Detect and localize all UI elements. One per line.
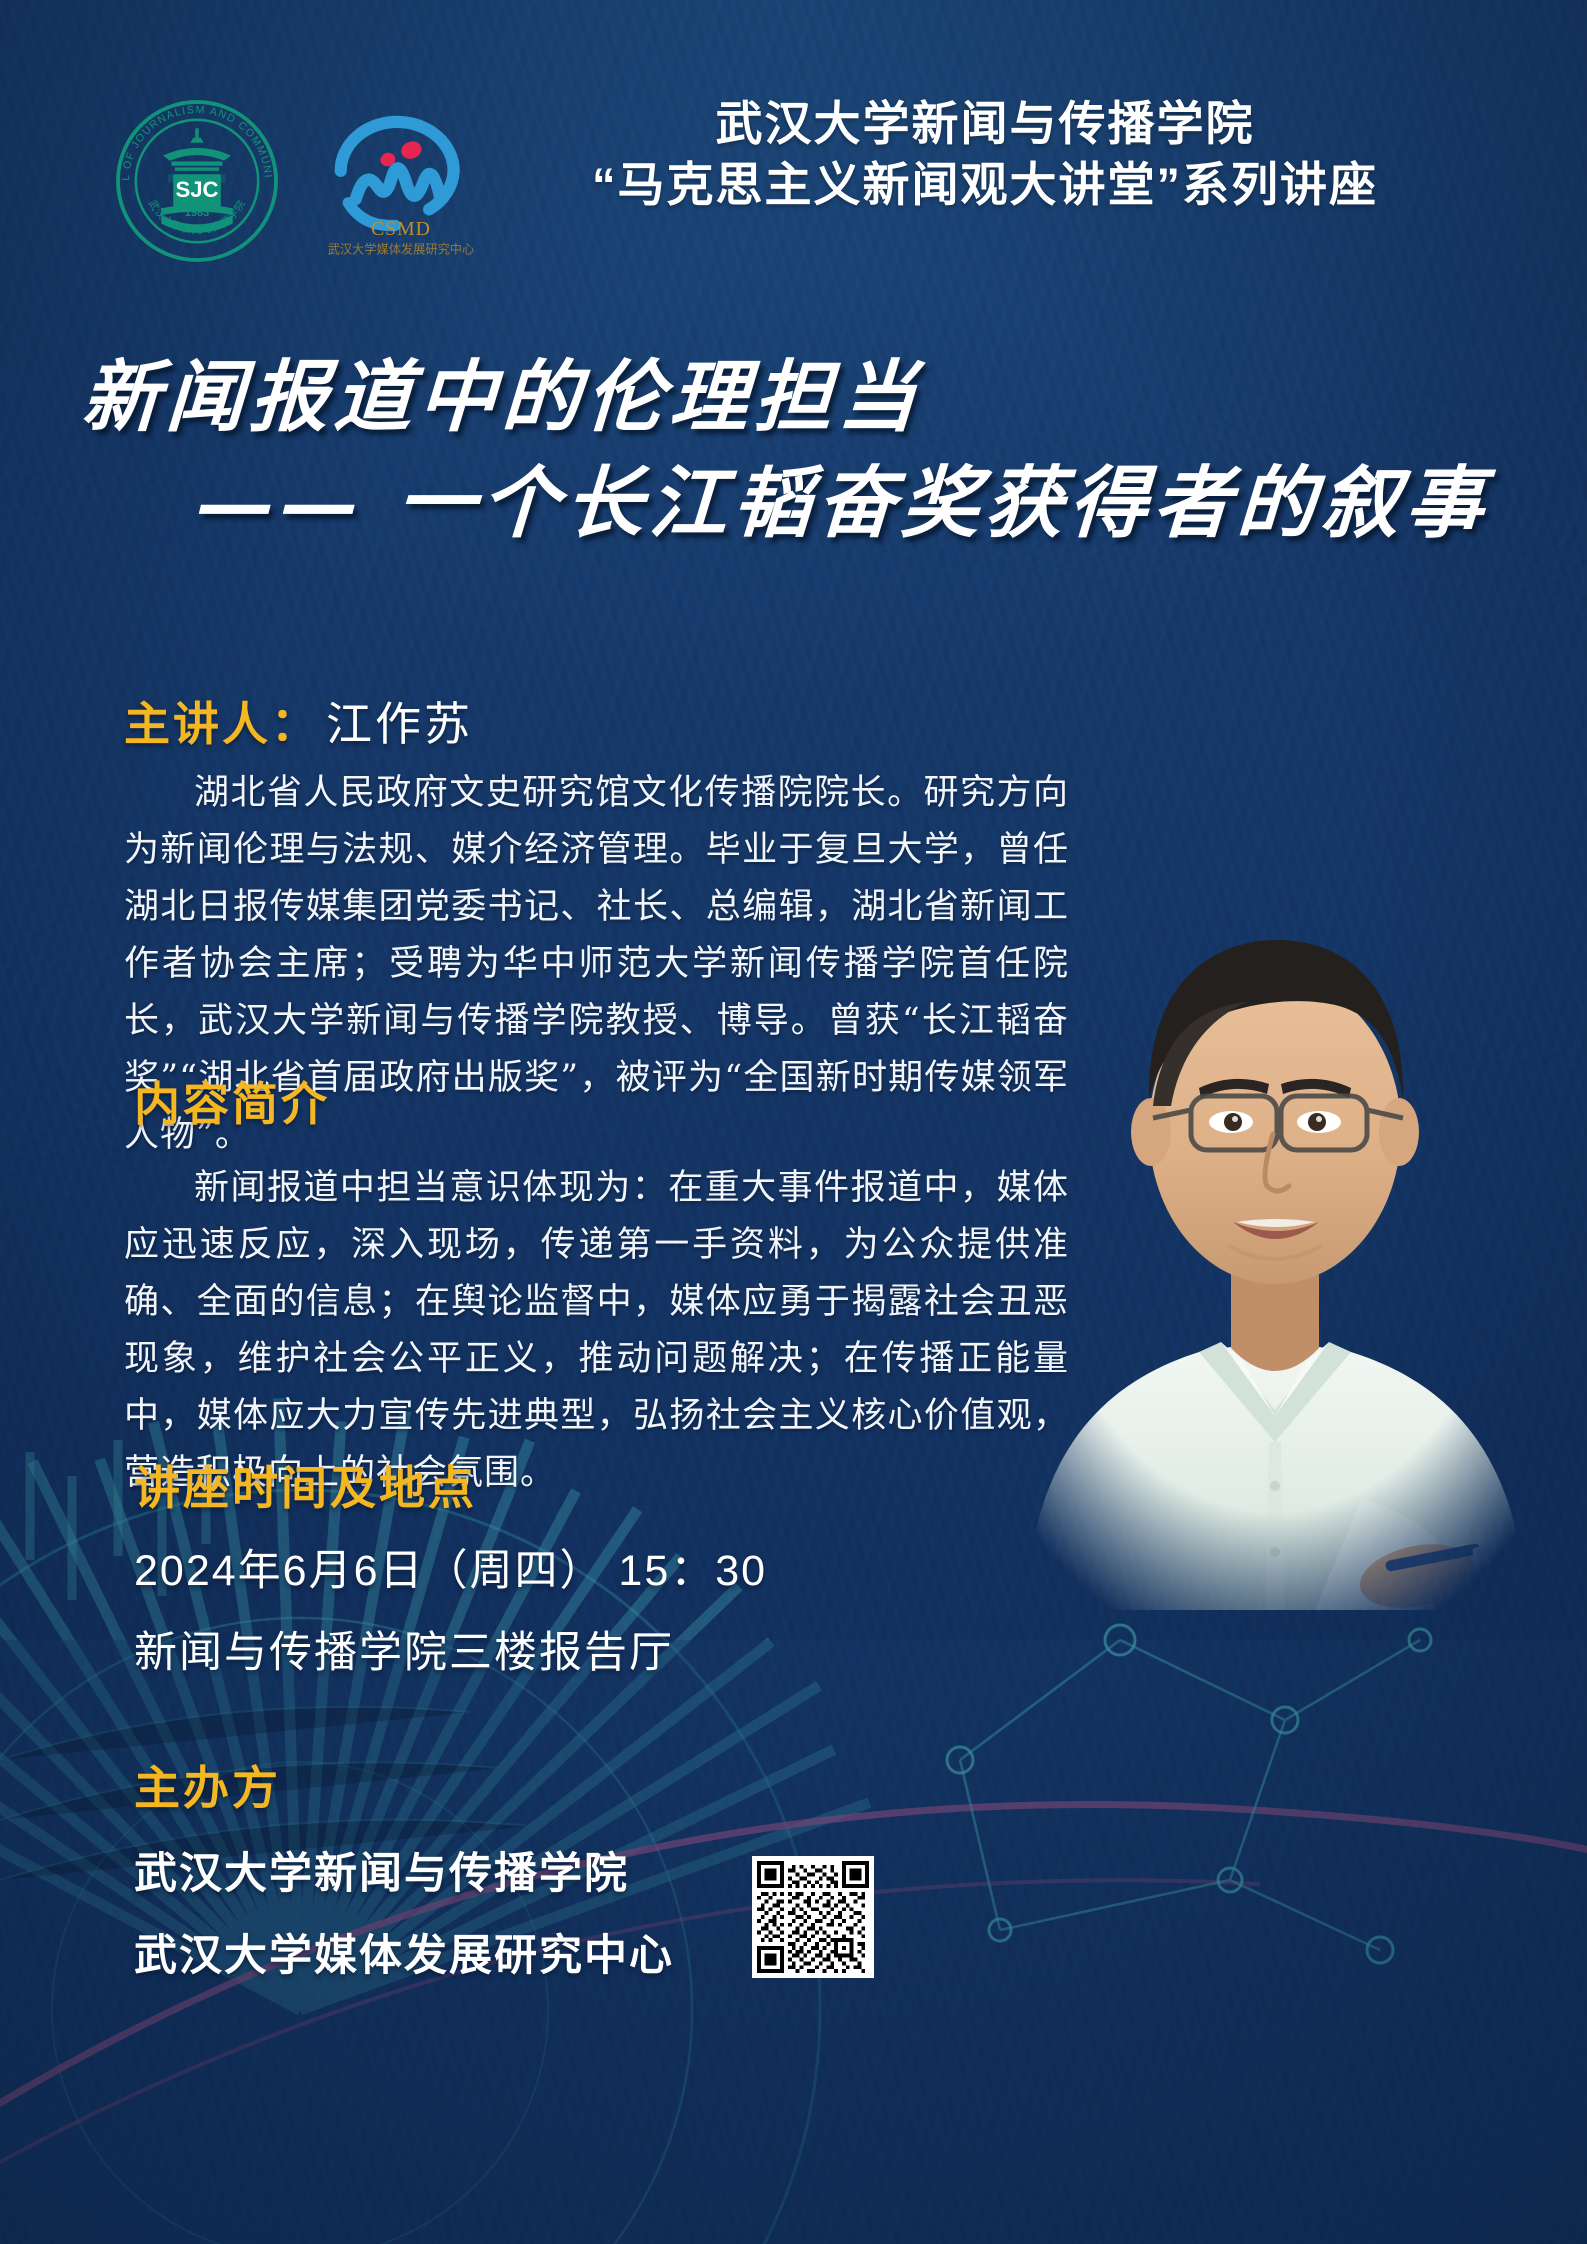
schedule-venue: 新闻与传播学院三楼报告厅 [134,1620,674,1687]
lecture-poster: SCHOOL OF JOURNALISM AND COMMUNICATION 武… [0,0,1587,2244]
header-title-block: 武汉大学新闻与传播学院 “马克思主义新闻观大讲堂”系列讲座 [480,94,1490,217]
header-line-series: “马克思主义新闻观大讲堂”系列讲座 [480,154,1490,217]
schedule-heading: 讲座时间及地点 [134,1452,477,1518]
abstract-text: 新闻报道中担当意识体现为：在重大事件报道中，媒体应迅速反应，深入现场，传递第一手… [124,1160,1069,1502]
organizer-item-2: 武汉大学媒体发展研究中心 [134,1922,674,1992]
organizers-heading: 主办方 [134,1752,281,1818]
qr-code-image [757,1861,869,1973]
school-of-journalism-logo-icon: SCHOOL OF JOURNALISM AND COMMUNICATION 武… [112,96,282,266]
speaker-name: 江作苏 [326,698,473,750]
speaker-label: 主讲人： [124,698,320,750]
qr-code[interactable] [752,1856,874,1978]
lecture-title-block: 新闻报道中的伦理担当 —— 一个长江韬奋奖获得者的叙事 [0,352,1587,550]
speaker-portrait [985,770,1565,1610]
csmd-media-research-center-logo-icon: CSMD 武汉大学媒体发展研究中心 [320,108,480,260]
lecture-title-subtitle: —— 一个长江韬奋奖获得者的叙事 [194,458,1587,550]
organizer-item-1: 武汉大学新闻与传播学院 [134,1840,629,1910]
schedule-datetime: 2024年6月6日（周四） 15：30 [134,1538,767,1605]
speaker-heading-row: 主讲人：江作苏 [124,688,473,754]
csmd-caption: 武汉大学媒体发展研究中心 [328,242,475,257]
poster-header: SCHOOL OF JOURNALISM AND COMMUNICATION 武… [0,48,1587,218]
csmd-abbr: CSMD [371,218,431,240]
svg-text:SJC: SJC [176,177,219,202]
header-line-institution: 武汉大学新闻与传播学院 [480,94,1490,154]
abstract-heading: 内容简介 [134,1068,330,1134]
lecture-title-main: 新闻报道中的伦理担当 [80,352,1587,444]
